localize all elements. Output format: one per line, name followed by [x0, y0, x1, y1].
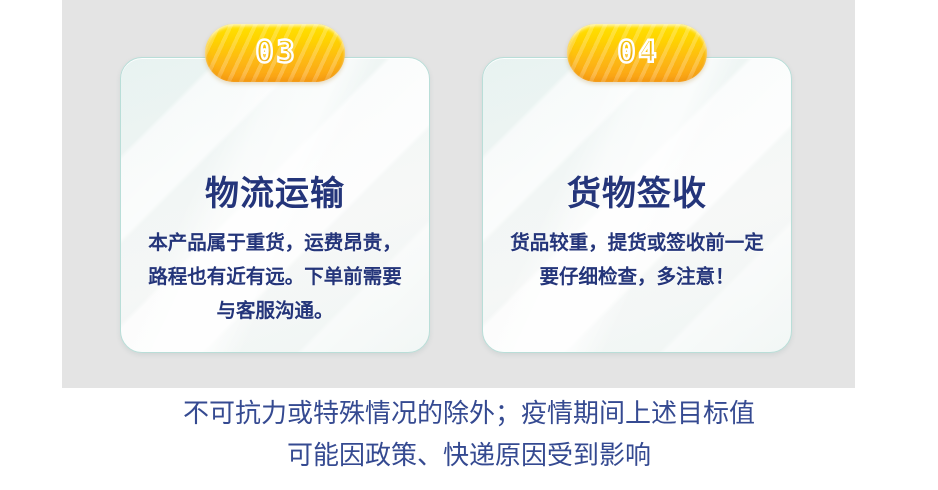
step-number-badge: 04: [567, 24, 707, 82]
step-number-label: 03: [252, 38, 297, 68]
glass-card-surface: 物流运输 本产品属于重货，运费昂贵，路程也有近有远。下单前需要与客服沟通。: [120, 57, 430, 353]
footer-disclaimer: 不可抗力或特殊情况的除外；疫情期间上述目标值 可能因政策、快递原因受到影响: [0, 392, 938, 476]
glass-card-surface: 货物签收 货品较重，提货或签收前一定要仔细检查，多注意！: [482, 57, 792, 353]
info-card-03: 物流运输 本产品属于重货，运费昂贵，路程也有近有远。下单前需要与客服沟通。 03: [120, 24, 430, 354]
step-number-badge: 03: [205, 24, 345, 82]
card-title: 货物签收: [483, 166, 791, 215]
footer-line-1: 不可抗力或特殊情况的除外；疫情期间上述目标值: [0, 392, 938, 434]
card-body-text: 本产品属于重货，运费昂贵，路程也有近有远。下单前需要与客服沟通。: [145, 226, 405, 328]
footer-line-2: 可能因政策、快递原因受到影响: [0, 434, 938, 476]
card-title: 物流运输: [121, 166, 429, 215]
card-body-text: 货品较重，提货或签收前一定要仔细检查，多注意！: [507, 226, 767, 294]
cards-container: 物流运输 本产品属于重货，运费昂贵，路程也有近有远。下单前需要与客服沟通。 03…: [62, 0, 855, 388]
info-card-04: 货物签收 货品较重，提货或签收前一定要仔细检查，多注意！ 04: [482, 24, 792, 354]
step-number-label: 04: [614, 38, 659, 68]
